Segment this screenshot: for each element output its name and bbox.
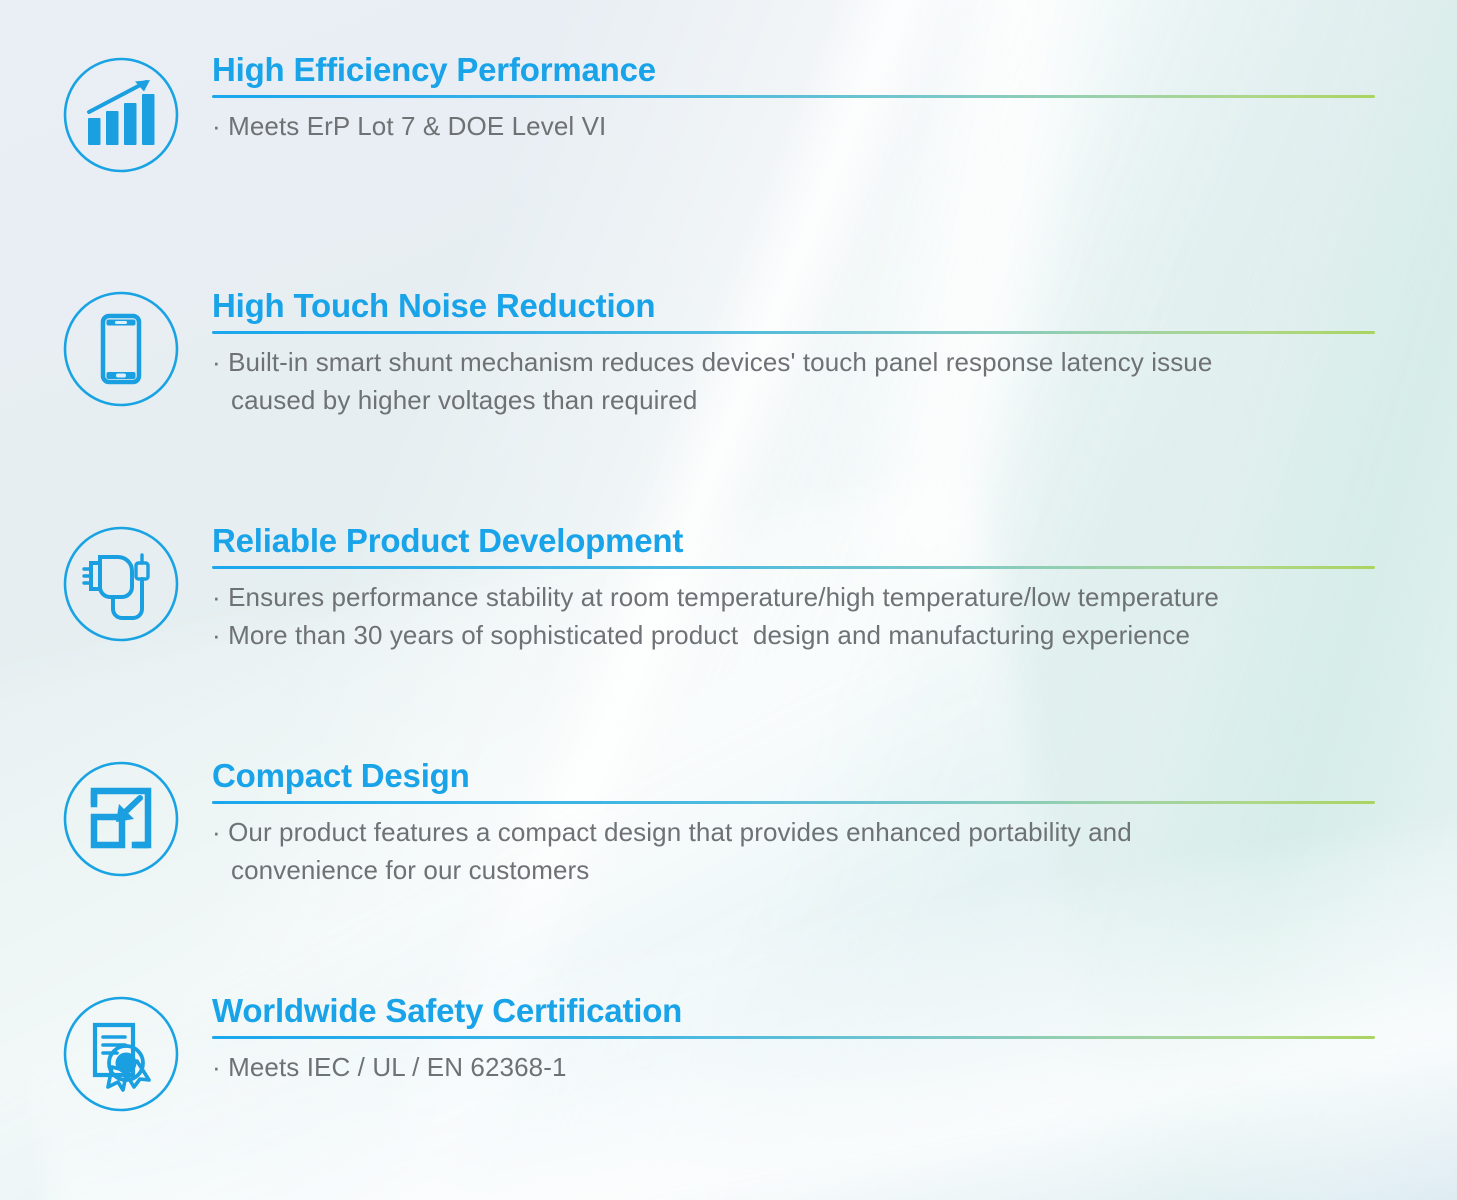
feature-bullet: · Meets IEC / UL / EN 62368-1 [212,1048,1377,1086]
bullet-marker: · [212,111,221,141]
feature-highlight-panel: High Efficiency Performance · Meets ErP … [0,0,1457,1200]
bullet-text: Meets IEC / UL / EN 62368-1 [228,1052,566,1082]
feature-bullets: · Our product features a compact design … [212,813,1377,889]
bullet-text: Meets ErP Lot 7 & DOE Level VI [228,111,606,141]
feature-bullets: · Meets ErP Lot 7 & DOE Level VI [212,107,1377,145]
feature-bullet-continuation: convenience for our customers [212,851,1377,889]
feature-bullet: · Our product features a compact design … [212,813,1377,851]
feature-title: High Efficiency Performance [212,50,1377,90]
bullet-text: Built-in smart shunt mechanism reduces d… [228,347,1212,377]
feature-bullet: · Ensures performance stability at room … [212,578,1377,616]
smartphone-icon [62,290,180,408]
resize-compact-icon [62,760,180,878]
feature-title: Reliable Product Development [212,521,1377,561]
feature-divider [212,1036,1375,1039]
feature-content: Reliable Product Development · Ensures p… [212,521,1377,654]
feature-bullet-continuation: caused by higher voltages than required [212,381,1377,419]
bullet-marker: · [212,582,221,612]
feature-content: Compact Design · Our product features a … [212,756,1377,889]
feature-bullet: · More than 30 years of sophisticated pr… [212,616,1377,654]
feature-bullets: · Ensures performance stability at room … [212,578,1377,654]
certificate-award-icon [62,995,180,1113]
feature-title: High Touch Noise Reduction [212,286,1377,326]
feature-divider [212,95,1375,98]
feature-divider [212,801,1375,804]
power-adapter-icon [62,525,180,643]
feature-bullets: · Built-in smart shunt mechanism reduces… [212,343,1377,419]
feature-title: Worldwide Safety Certification [212,991,1377,1031]
bullet-text: Ensures performance stability at room te… [228,582,1219,612]
bullet-text: More than 30 years of sophisticated prod… [228,620,1190,650]
feature-bullet: · Built-in smart shunt mechanism reduces… [212,343,1377,381]
feature-content: High Efficiency Performance · Meets ErP … [212,50,1377,145]
feature-divider [212,331,1375,334]
bullet-marker: · [212,817,221,847]
feature-bullet: · Meets ErP Lot 7 & DOE Level VI [212,107,1377,145]
bullet-marker: · [212,1052,221,1082]
feature-content: High Touch Noise Reduction · Built-in sm… [212,286,1377,419]
bar-chart-growth-icon [62,56,180,174]
bullet-marker: · [212,620,221,650]
bullet-marker: · [212,347,221,377]
feature-title: Compact Design [212,756,1377,796]
feature-divider [212,566,1375,569]
bullet-text: Our product features a compact design th… [228,817,1132,847]
feature-content: Worldwide Safety Certification · Meets I… [212,991,1377,1086]
feature-bullets: · Meets IEC / UL / EN 62368-1 [212,1048,1377,1086]
